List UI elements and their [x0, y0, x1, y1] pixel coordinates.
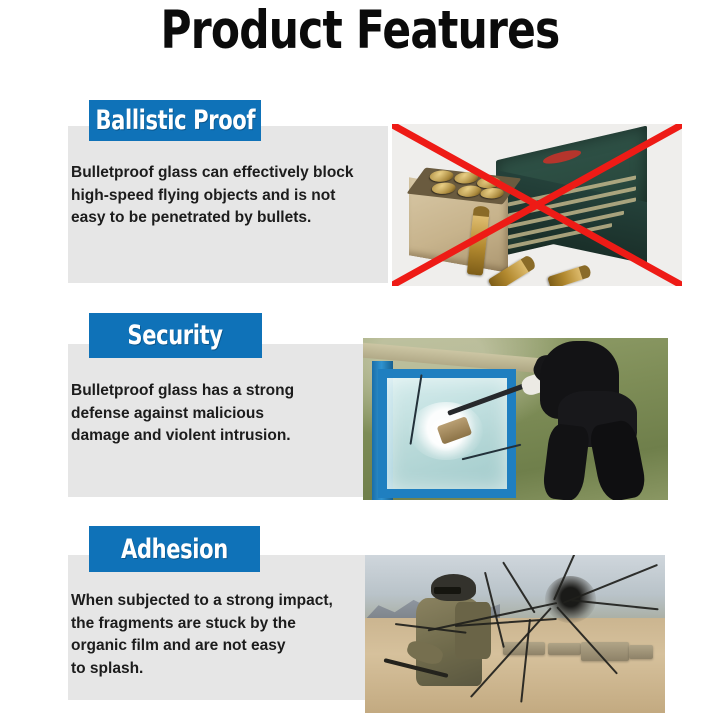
feature-body-text-2: Bulletproof glass has a strong defense a…: [71, 380, 371, 448]
soldier-cracked-glass-photo: [365, 555, 665, 713]
page-title: Product Features: [72, 2, 648, 60]
feature-badge-label: Adhesion: [121, 536, 228, 563]
feature-body-text-1: Bulletproof glass can effectively block …: [71, 162, 391, 230]
product-features-infographic: Product Features: [0, 0, 720, 720]
hammer-impact-test-photo: [363, 338, 668, 500]
ammunition-box-photo: [392, 124, 682, 286]
feature-badge-adhesion: Adhesion: [89, 526, 260, 572]
feature-badge-security: Security: [89, 313, 262, 358]
feature-badge-label: Ballistic Proof: [95, 107, 255, 134]
feature-badge-label: Security: [128, 322, 223, 349]
feature-badge-ballistic-proof: Ballistic Proof: [89, 100, 261, 141]
red-x-mark-icon: [392, 124, 682, 286]
military-vehicle: [548, 643, 581, 654]
soldier-visor: [434, 587, 461, 595]
military-vehicle: [629, 645, 653, 659]
feature-body-text-3: When subjected to a strong impact, the f…: [71, 590, 391, 680]
